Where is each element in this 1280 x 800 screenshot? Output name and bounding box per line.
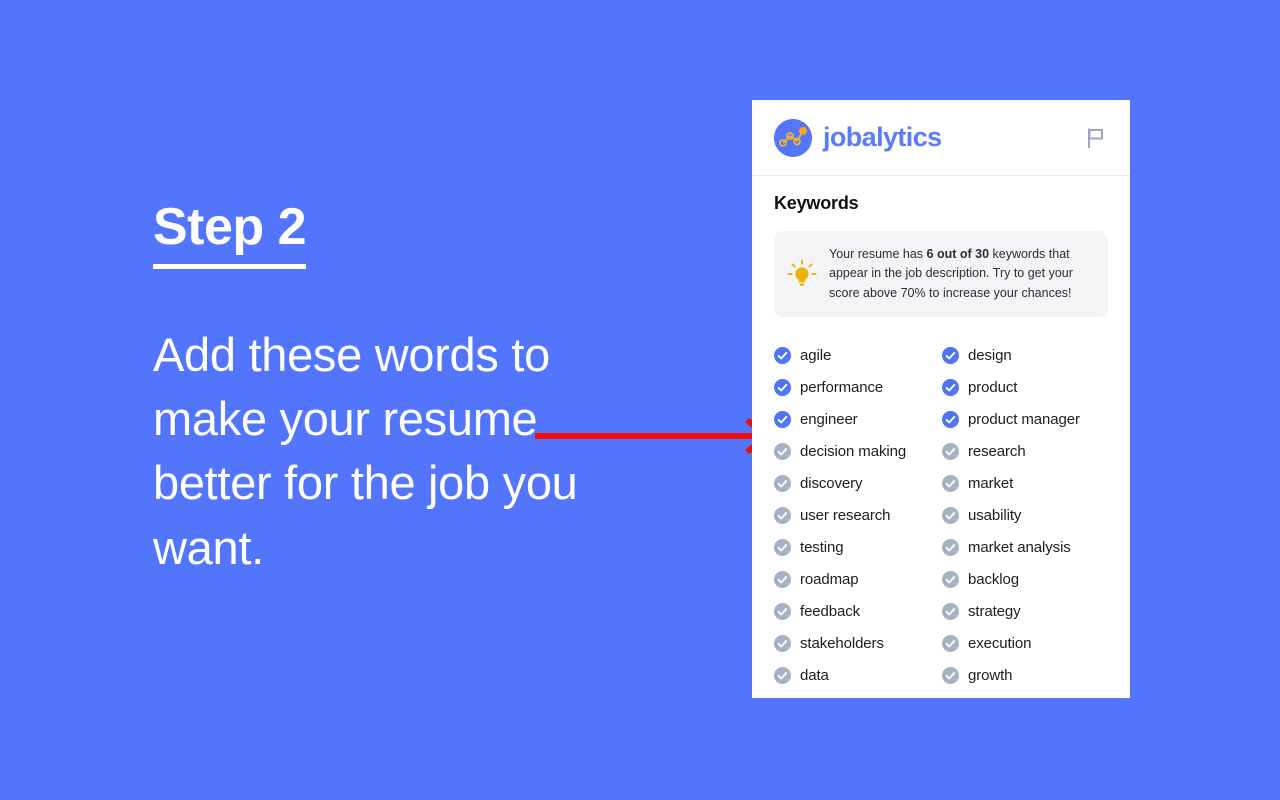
keyword-item[interactable]: research [942, 435, 1108, 467]
keyword-item[interactable]: backlog [942, 563, 1108, 595]
check-circle-icon [774, 635, 791, 652]
check-circle-icon [774, 507, 791, 524]
keyword-label: usability [968, 507, 1021, 524]
keyword-label: market analysis [968, 539, 1071, 556]
keyword-item[interactable]: product manager [942, 403, 1108, 435]
keyword-item[interactable]: strategy [942, 595, 1108, 627]
scatter-chart-logo-icon [774, 119, 812, 157]
keyword-label: feedback [800, 603, 860, 620]
keyword-label: research [968, 443, 1026, 460]
keyword-item[interactable]: user research [774, 499, 942, 531]
check-circle-icon [774, 379, 791, 396]
check-circle-icon [942, 603, 959, 620]
check-circle-icon [942, 539, 959, 556]
tip-text-before: Your resume has [829, 247, 927, 261]
check-circle-icon [774, 475, 791, 492]
keyword-item[interactable]: roadmap [774, 563, 942, 595]
keyword-item[interactable]: discovery [774, 467, 942, 499]
check-circle-icon [942, 379, 959, 396]
keyword-item[interactable]: engineer [774, 403, 942, 435]
check-circle-icon [774, 347, 791, 364]
card-header: jobalytics [752, 100, 1130, 176]
keyword-label: product [968, 379, 1017, 396]
tip-banner: Your resume has 6 out of 30 keywords tha… [774, 231, 1108, 317]
keyword-label: data [800, 667, 829, 684]
keyword-label: product manager [968, 411, 1080, 428]
keyword-label: execution [968, 635, 1031, 652]
keyword-label: stakeholders [800, 635, 884, 652]
keyword-item[interactable]: feedback [774, 595, 942, 627]
keyword-label: design [968, 347, 1012, 364]
keyword-label: strategy [968, 603, 1021, 620]
check-circle-icon [942, 411, 959, 428]
section-title: Keywords [752, 176, 1130, 214]
keyword-label: market [968, 475, 1013, 492]
check-circle-icon [942, 443, 959, 460]
keyword-label: agile [800, 347, 831, 364]
check-circle-icon [942, 347, 959, 364]
flag-icon[interactable] [1082, 125, 1108, 151]
check-circle-icon [942, 635, 959, 652]
check-circle-icon [774, 443, 791, 460]
keyword-item[interactable]: design [942, 339, 1108, 371]
keyword-item[interactable]: testing [774, 531, 942, 563]
keyword-item[interactable]: b2b [942, 691, 1108, 698]
keyword-item[interactable]: growth [942, 659, 1108, 691]
promo-panel: Step 2 Add these words to make your resu… [153, 200, 623, 580]
keyword-item[interactable]: performance [774, 371, 942, 403]
jobalytics-extension-card: jobalytics Keywords Your resume has [752, 100, 1130, 698]
flag-glyph [1086, 128, 1105, 148]
keyword-grid: agiledesignperformanceproductengineerpro… [774, 339, 1108, 698]
keyword-item[interactable]: execution [942, 627, 1108, 659]
check-circle-icon [774, 603, 791, 620]
keyword-label: roadmap [800, 571, 859, 588]
keyword-item[interactable]: agile [774, 339, 942, 371]
keyword-item[interactable]: product lifecycle [774, 691, 942, 698]
keyword-item[interactable]: market analysis [942, 531, 1108, 563]
keyword-item[interactable]: data [774, 659, 942, 691]
keyword-label: testing [800, 539, 844, 556]
keyword-label: engineer [800, 411, 858, 428]
red-arrow-annotation-icon [535, 418, 771, 454]
keyword-label: discovery [800, 475, 862, 492]
check-circle-icon [774, 411, 791, 428]
brand: jobalytics [774, 119, 1082, 157]
keyword-item[interactable]: usability [942, 499, 1108, 531]
step-label: Step 2 [153, 200, 306, 269]
keyword-item[interactable]: decision making [774, 435, 942, 467]
brand-name: jobalytics [823, 122, 942, 153]
check-circle-icon [774, 667, 791, 684]
keyword-label: backlog [968, 571, 1019, 588]
keyword-label: user research [800, 507, 890, 524]
check-circle-icon [942, 667, 959, 684]
check-circle-icon [774, 539, 791, 556]
keyword-item[interactable]: market [942, 467, 1108, 499]
keyword-label: decision making [800, 443, 906, 460]
check-circle-icon [942, 475, 959, 492]
tip-text: Your resume has 6 out of 30 keywords tha… [829, 245, 1094, 303]
keyword-label: performance [800, 379, 883, 396]
keyword-item[interactable]: stakeholders [774, 627, 942, 659]
tip-text-bold: 6 out of 30 [927, 247, 990, 261]
keyword-label: growth [968, 667, 1012, 684]
keyword-item[interactable]: product [942, 371, 1108, 403]
check-circle-icon [942, 571, 959, 588]
lightbulb-icon [787, 259, 817, 289]
check-circle-icon [774, 571, 791, 588]
check-circle-icon [942, 507, 959, 524]
